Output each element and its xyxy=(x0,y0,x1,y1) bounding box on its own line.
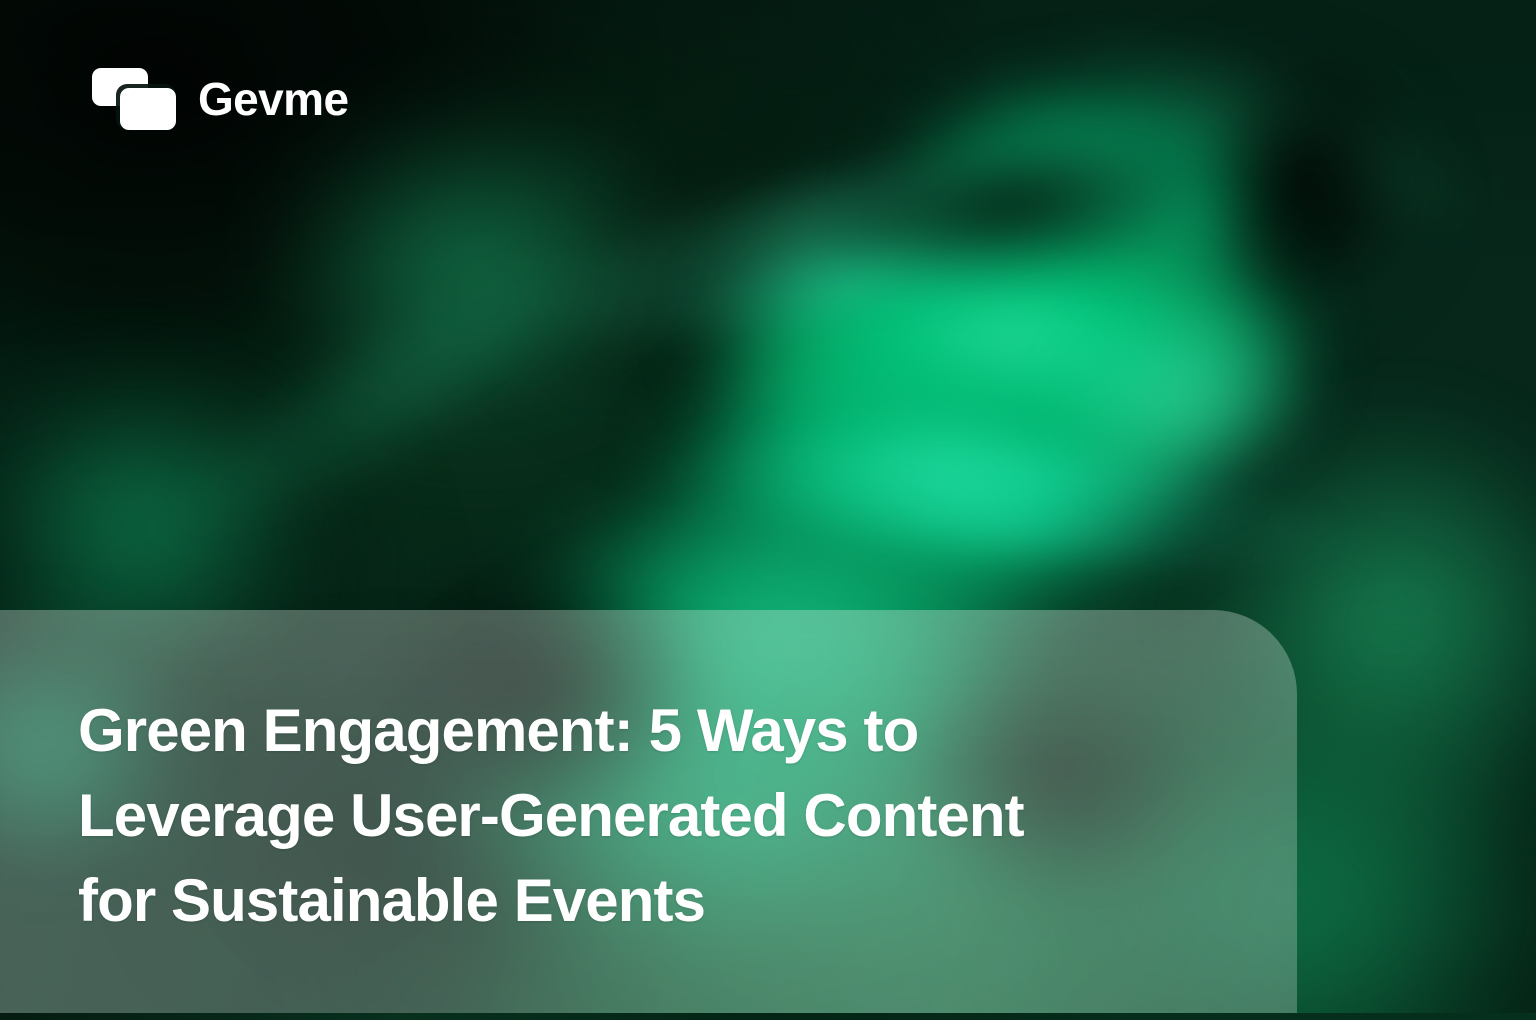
page-title-line-3: for Sustainable Events xyxy=(78,858,1208,943)
bg-cut-e xyxy=(0,0,522,306)
page-title-line-2: Leverage User-Generated Content xyxy=(78,773,1208,858)
stacked-cards-icon xyxy=(92,68,176,130)
bg-glow-curl xyxy=(829,41,1351,347)
brand-wordmark: Gevme xyxy=(198,76,348,122)
bg-cut-b xyxy=(1125,0,1486,378)
bottom-edge-strip xyxy=(0,1013,1536,1020)
stacked-cards-front-rect xyxy=(120,88,176,130)
bg-glow-main-plume xyxy=(630,143,1490,612)
bg-glow-tip xyxy=(1014,265,1352,530)
title-panel-inner: Green Engagement: 5 Ways to Leverage Use… xyxy=(0,610,1297,943)
page-title: Green Engagement: 5 Ways to Leverage Use… xyxy=(78,688,1208,943)
bg-streak-c xyxy=(138,215,630,570)
bg-cut-a xyxy=(695,60,1332,348)
bg-streak-a xyxy=(516,116,1142,373)
title-overlay-panel: Green Engagement: 5 Ways to Leverage Use… xyxy=(0,610,1297,1020)
bg-shadow-right xyxy=(1075,20,1474,367)
bg-streak-d xyxy=(1048,0,1502,253)
brand-logo[interactable]: Gevme xyxy=(92,68,348,130)
page-title-line-1: Green Engagement: 5 Ways to xyxy=(78,688,1208,773)
blog-hero-card: Gevme Green Engagement: 5 Ways to Levera… xyxy=(0,0,1536,1020)
bg-shadow-core xyxy=(430,82,1106,490)
bg-streak-b xyxy=(672,414,1355,586)
